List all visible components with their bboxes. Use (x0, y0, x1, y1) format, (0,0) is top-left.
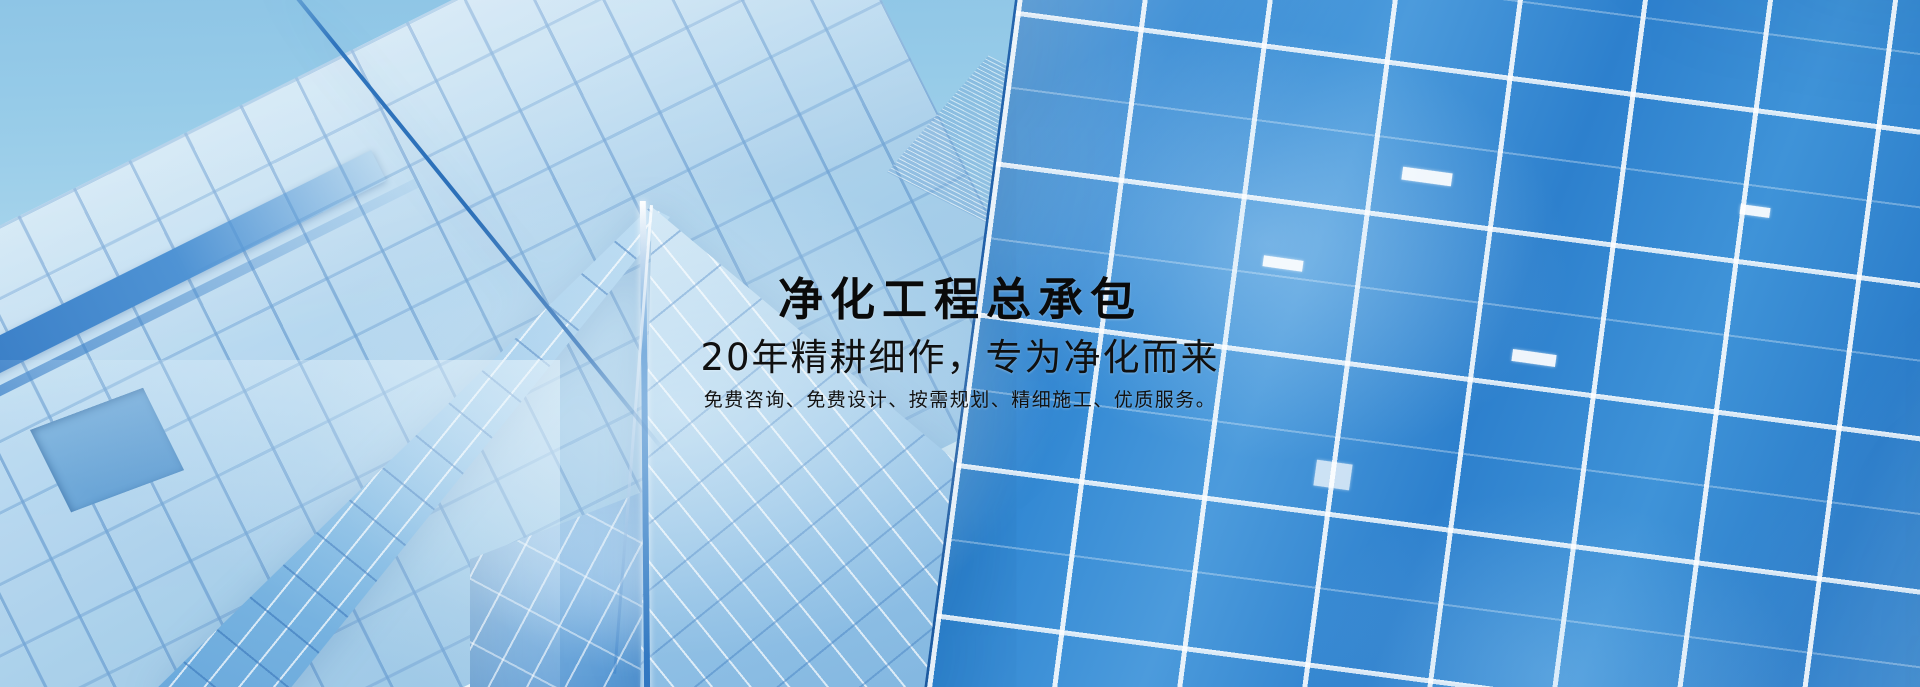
hero-banner: 净化工程总承包 20年精耕细作，专为净化而来 免费咨询、免费设计、按需规划、精细… (0, 0, 1920, 687)
pyramid-left-face (150, 195, 670, 687)
banner-subheadline: 20年精耕细作，专为净化而来 (0, 337, 1920, 380)
banner-copy-block: 净化工程总承包 20年精耕细作，专为净化而来 免费咨询、免费设计、按需规划、精细… (0, 276, 1920, 412)
glass-label-sticker (1313, 460, 1352, 491)
banner-tagline: 免费咨询、免费设计、按需规划、精细施工、优质服务。 (0, 388, 1920, 413)
banner-headline: 净化工程总承包 (0, 276, 1920, 325)
pyramid-left-grid-b (150, 195, 670, 687)
